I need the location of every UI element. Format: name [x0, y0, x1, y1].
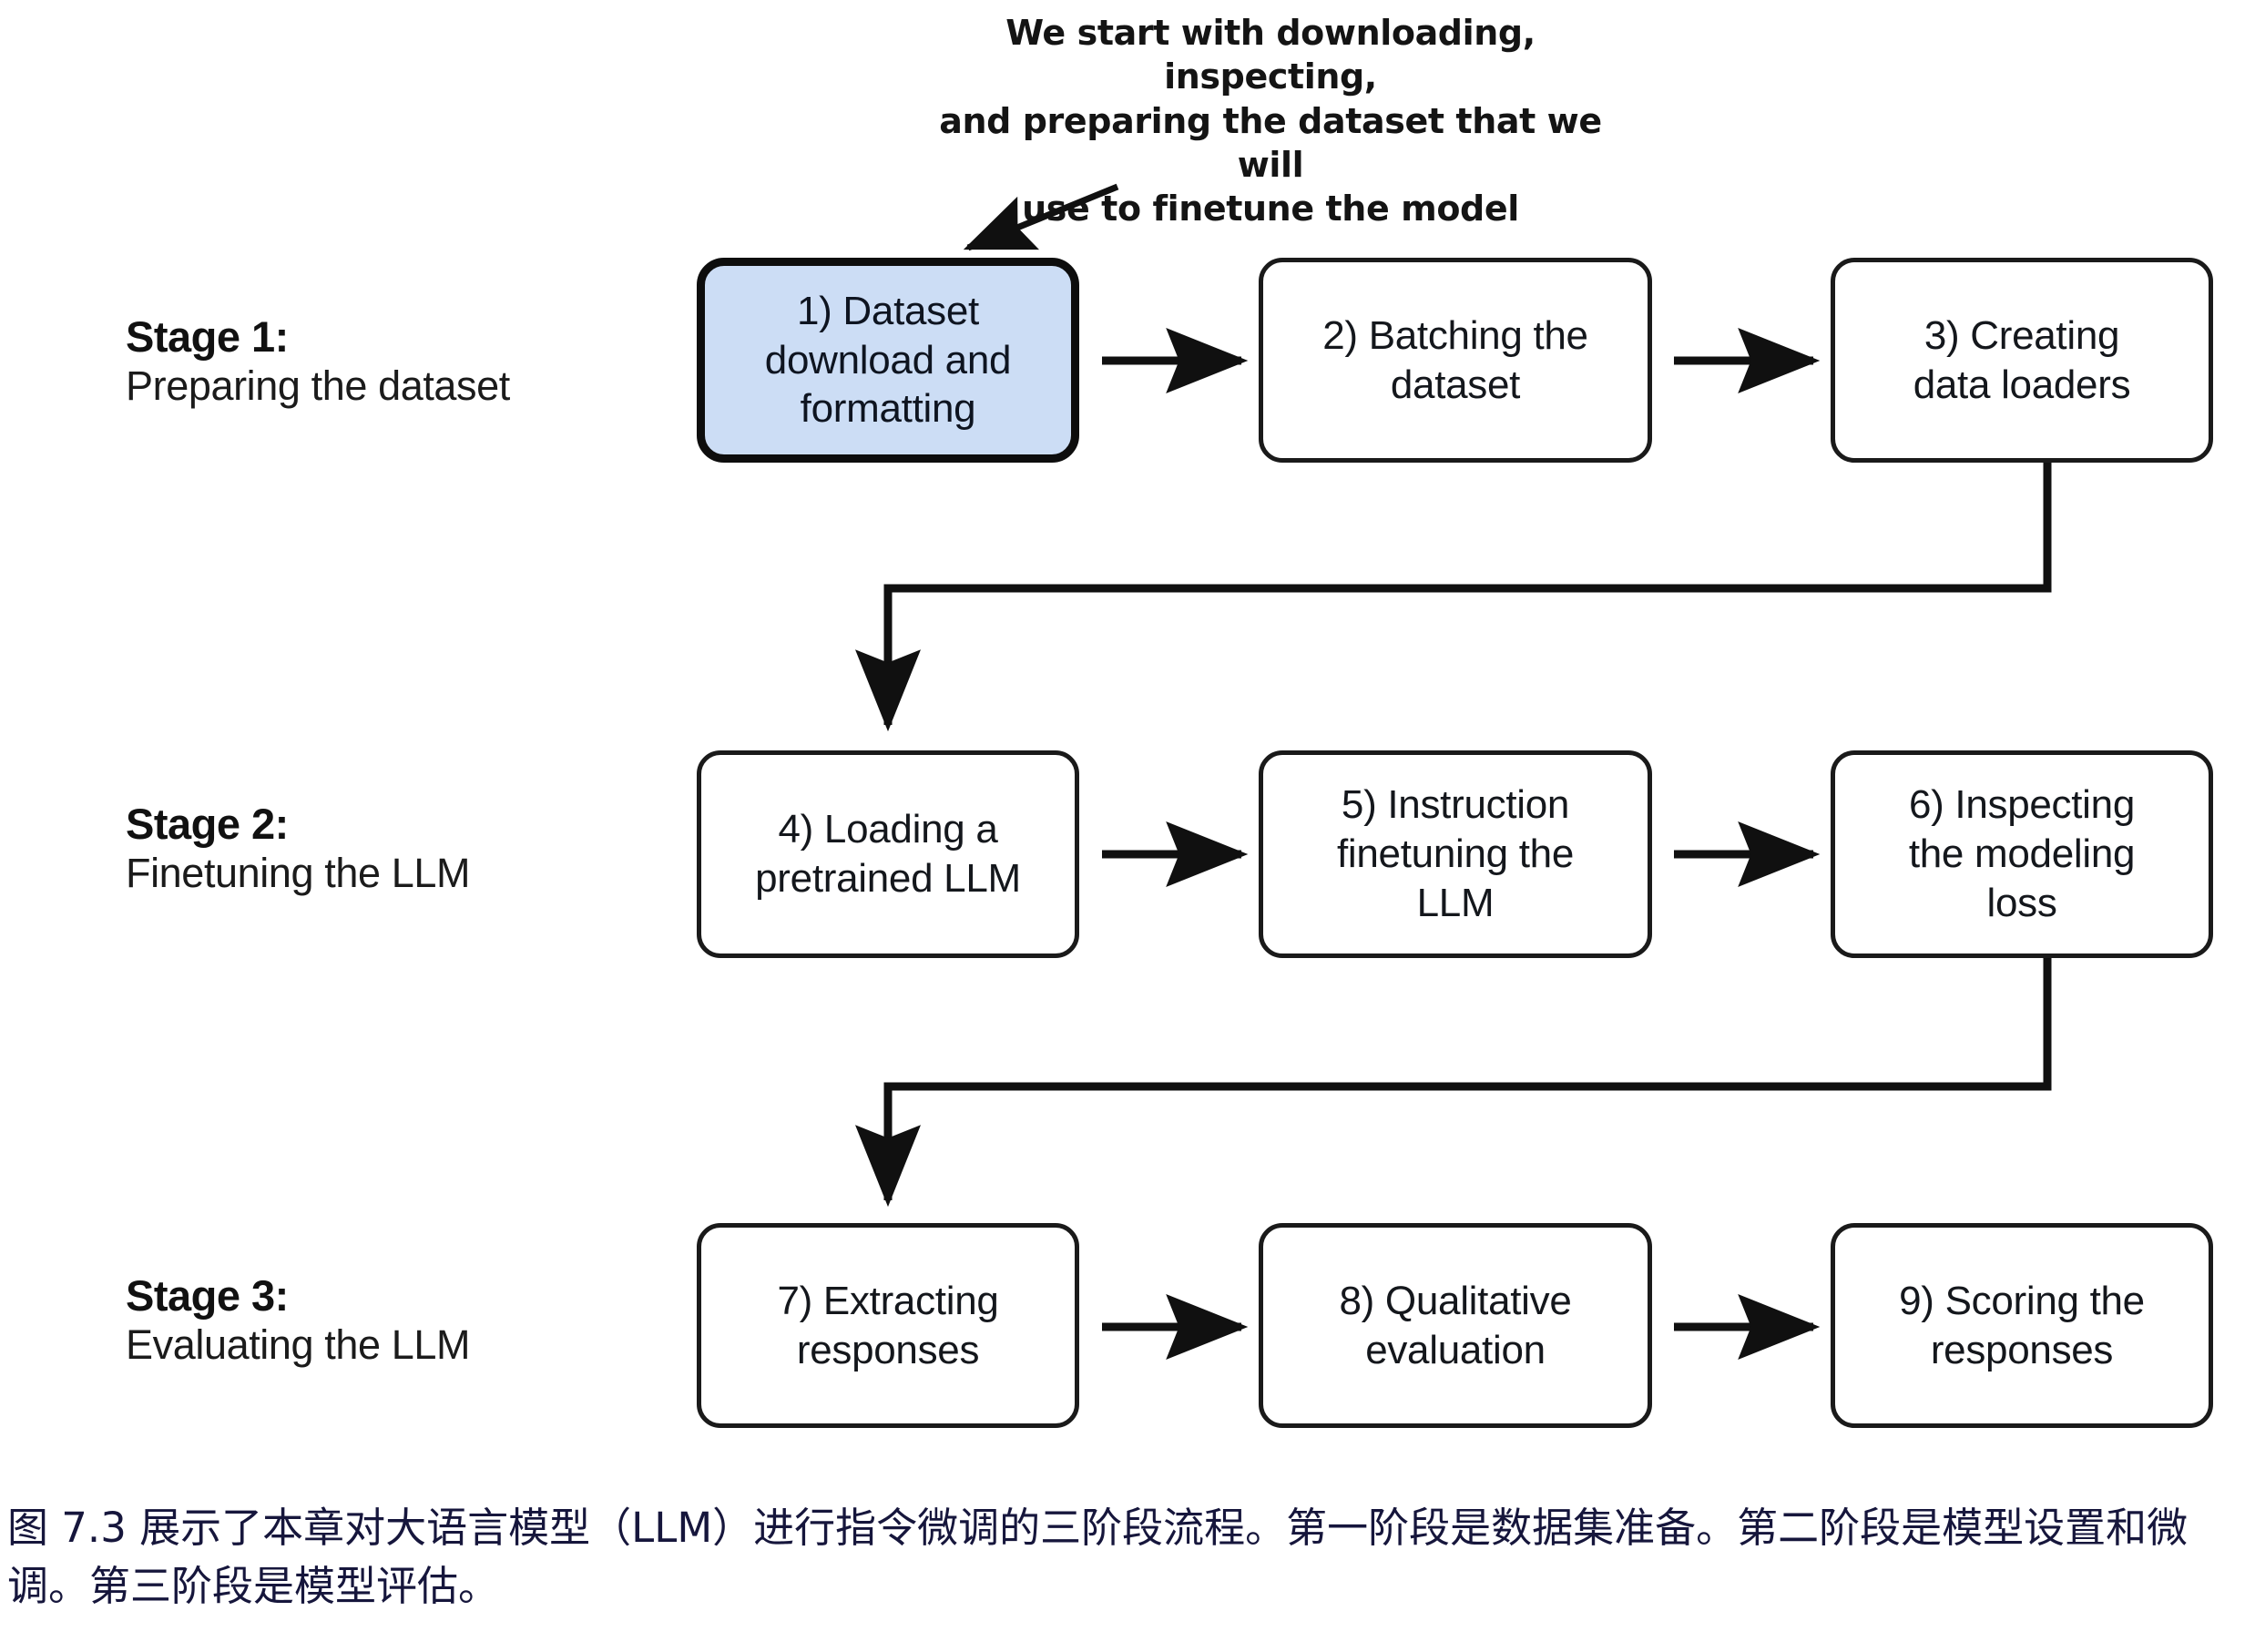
arrow-6-to-7: [888, 958, 2047, 1200]
flow-step-9-scoring-the-responses[interactable]: 9) Scoring the responses: [1831, 1223, 2213, 1428]
figure-canvas: We start with downloading, inspecting, a…: [0, 0, 2255, 1652]
flow-step-8-qualitative-evaluation[interactable]: 8) Qualitative evaluation: [1259, 1223, 1652, 1428]
annotation-callout-text: We start with downloading, inspecting, a…: [911, 11, 1630, 230]
arrow-3-to-4: [888, 463, 2047, 725]
stage-3-subtitle: Evaluating the LLM: [126, 1321, 672, 1370]
figure-caption: 图 7.3 展示了本章对大语言模型（LLM）进行指令微调的三阶段流程。第一阶段是…: [7, 1499, 2250, 1616]
flow-step-7-extracting-responses[interactable]: 7) Extracting responses: [697, 1223, 1079, 1428]
stage-label-1: Stage 1: Preparing the dataset: [126, 311, 672, 411]
stage-2-title: Stage 2:: [126, 799, 672, 849]
stage-3-title: Stage 3:: [126, 1270, 672, 1321]
flow-step-5-instruction-finetuning-the-llm[interactable]: 5) Instruction finetuning the LLM: [1259, 750, 1652, 958]
flow-step-2-batching-the-dataset[interactable]: 2) Batching the dataset: [1259, 258, 1652, 463]
flow-step-3-creating-data-loaders[interactable]: 3) Creating data loaders: [1831, 258, 2213, 463]
stage-2-subtitle: Finetuning the LLM: [126, 849, 672, 898]
stage-1-title: Stage 1:: [126, 311, 672, 362]
stage-label-2: Stage 2: Finetuning the LLM: [126, 799, 672, 898]
stage-1-subtitle: Preparing the dataset: [126, 362, 672, 411]
flow-step-1-dataset-download-and-formatting[interactable]: 1) Dataset download and formatting: [697, 258, 1079, 463]
flow-step-6-inspecting-the-modeling-loss[interactable]: 6) Inspecting the modeling loss: [1831, 750, 2213, 958]
flow-step-4-loading-a-pretrained-llm[interactable]: 4) Loading a pretrained LLM: [697, 750, 1079, 958]
stage-label-3: Stage 3: Evaluating the LLM: [126, 1270, 672, 1370]
